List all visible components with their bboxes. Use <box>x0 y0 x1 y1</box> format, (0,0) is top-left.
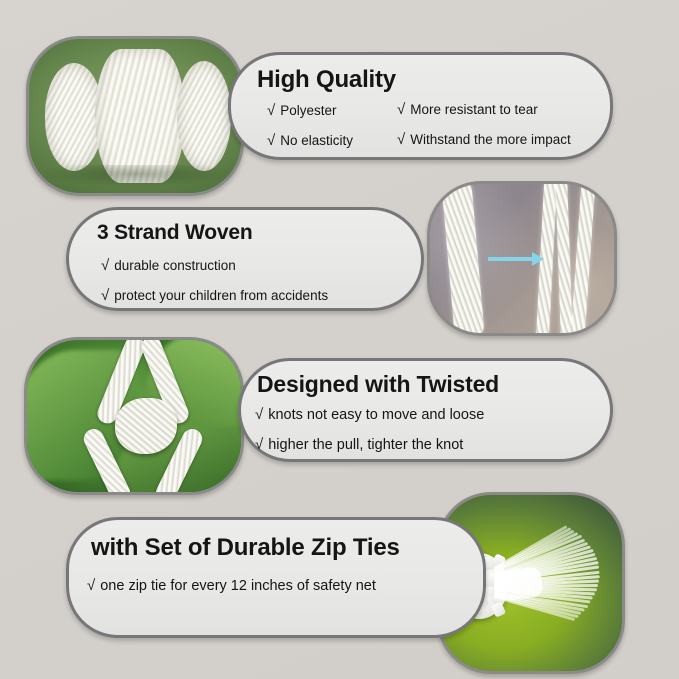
bullet-polyester: √ Polyester <box>267 103 337 118</box>
panel-image-high-quality <box>26 36 244 196</box>
bullet-one-zip-tie-per-12-inches: √ one zip tie for every 12 inches of saf… <box>87 578 376 594</box>
bullet-higher-pull-tighter-knot: √ higher the pull, tighter the knot <box>255 437 463 453</box>
panel-image-three-strand-woven <box>427 181 617 336</box>
check-icon: √ <box>255 437 263 452</box>
check-icon: √ <box>267 133 275 148</box>
bullet-resistant-to-tear: √ More resistant to tear <box>397 102 538 117</box>
bullet-label: higher the pull, tighter the knot <box>268 437 463 453</box>
check-icon: √ <box>397 102 405 117</box>
bullet-durable-construction: √ durable construction <box>101 258 236 273</box>
panel-card-durable-zip-ties: with Set of Durable Zip Ties √ one zip t… <box>66 517 486 638</box>
panel-title-high-quality: High Quality <box>257 66 396 94</box>
bullet-label: Polyester <box>280 103 336 118</box>
check-icon: √ <box>101 288 109 303</box>
check-icon: √ <box>87 578 95 593</box>
rope-coil-center <box>95 49 185 183</box>
panel-card-high-quality: High Quality √ Polyester √ No elasticity… <box>228 52 613 160</box>
bullet-label: More resistant to tear <box>410 102 538 117</box>
bullet-label: protect your children from accidents <box>114 288 328 303</box>
rope-coil-shadow <box>39 165 233 187</box>
bullet-withstand-impact: √ Withstand the more impact <box>397 132 571 147</box>
product-feature-infographic: High Quality √ Polyester √ No elasticity… <box>0 0 679 679</box>
panel-title-durable-zip-ties: with Set of Durable Zip Ties <box>91 534 400 562</box>
bullet-no-elasticity: √ No elasticity <box>267 133 353 148</box>
arrow-icon-line <box>488 257 536 261</box>
bullet-label: knots not easy to move and loose <box>268 407 484 423</box>
panel-image-designed-with-twisted <box>24 337 244 495</box>
bullet-knots-not-easy-to-move: √ knots not easy to move and loose <box>255 407 484 423</box>
panel-title-three-strand-woven: 3 Strand Woven <box>97 221 253 245</box>
check-icon: √ <box>267 103 275 118</box>
check-icon: √ <box>101 258 109 273</box>
panel-card-three-strand-woven: 3 Strand Woven √ durable construction √ … <box>66 207 424 311</box>
bullet-label: one zip tie for every 12 inches of safet… <box>100 578 376 594</box>
rope-coil-right <box>177 61 231 171</box>
panel-card-designed-with-twisted: Designed with Twisted √ knots not easy t… <box>238 358 613 462</box>
zip-tie-head <box>491 601 506 617</box>
knot-center <box>115 398 177 454</box>
bullet-protect-children: √ protect your children from accidents <box>101 288 328 303</box>
bullet-label: No elasticity <box>280 133 353 148</box>
arrow-icon-head <box>532 252 544 266</box>
panel-title-designed-with-twisted: Designed with Twisted <box>257 371 499 398</box>
bullet-label: Withstand the more impact <box>410 132 571 147</box>
check-icon: √ <box>397 132 405 147</box>
check-icon: √ <box>255 407 263 422</box>
bullet-label: durable construction <box>114 258 236 273</box>
